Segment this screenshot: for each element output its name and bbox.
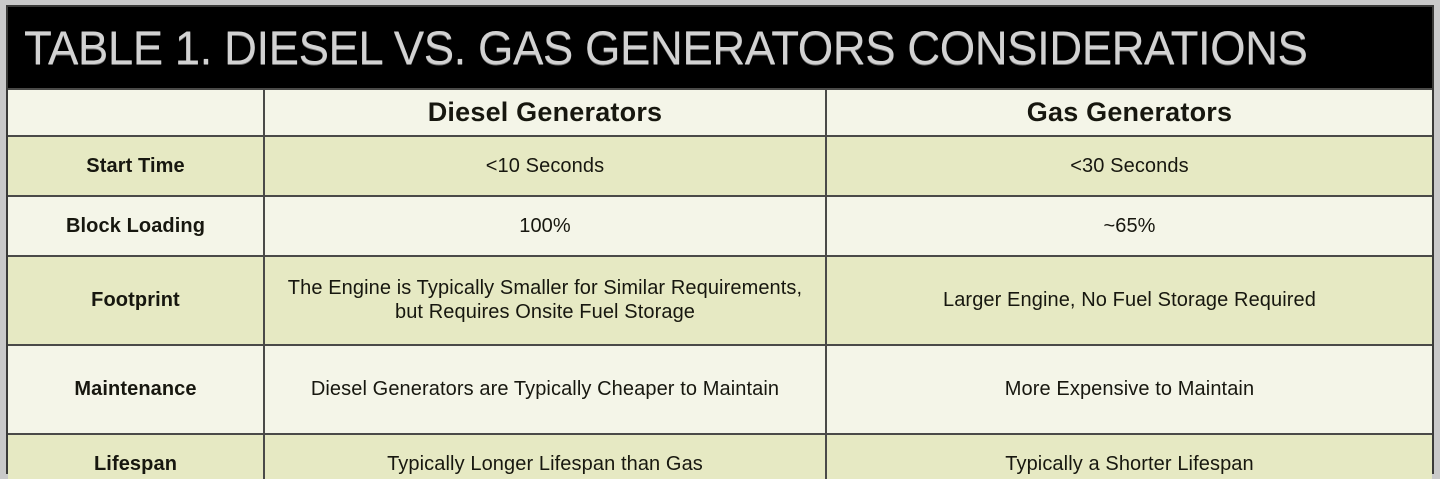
cell-gas-maintenance: More Expensive to Maintain: [826, 345, 1432, 434]
header-cell-label: [8, 90, 264, 136]
header-cell-diesel: Diesel Generators: [264, 90, 826, 136]
table-row: Start Time <10 Seconds <30 Seconds: [8, 136, 1432, 196]
cell-diesel-block-loading: 100%: [264, 196, 826, 256]
table-row: Footprint The Engine is Typically Smalle…: [8, 256, 1432, 345]
cell-diesel-maintenance: Diesel Generators are Typically Cheaper …: [264, 345, 826, 434]
table-header-row: Diesel Generators Gas Generators: [8, 90, 1432, 136]
row-label-maintenance: Maintenance: [8, 345, 264, 434]
row-label-lifespan: Lifespan: [8, 434, 264, 479]
cell-diesel-footprint: The Engine is Typically Smaller for Simi…: [264, 256, 826, 345]
table-body: Diesel Generators Gas Generators Start T…: [8, 90, 1432, 479]
cell-gas-footprint: Larger Engine, No Fuel Storage Required: [826, 256, 1432, 345]
cell-gas-lifespan: Typically a Shorter Lifespan: [826, 434, 1432, 479]
comparison-table: Diesel Generators Gas Generators Start T…: [8, 90, 1432, 479]
row-label-block-loading: Block Loading: [8, 196, 264, 256]
table-row: Block Loading 100% ~65%: [8, 196, 1432, 256]
cell-diesel-lifespan: Typically Longer Lifespan than Gas: [264, 434, 826, 479]
row-label-start-time: Start Time: [8, 136, 264, 196]
cell-gas-block-loading: ~65%: [826, 196, 1432, 256]
table-frame: TABLE 1. DIESEL VS. GAS GENERATORS CONSI…: [6, 5, 1434, 474]
header-cell-gas: Gas Generators: [826, 90, 1432, 136]
cell-gas-start-time: <30 Seconds: [826, 136, 1432, 196]
table-page: TABLE 1. DIESEL VS. GAS GENERATORS CONSI…: [0, 0, 1440, 479]
cell-diesel-start-time: <10 Seconds: [264, 136, 826, 196]
row-label-footprint: Footprint: [8, 256, 264, 345]
page-title: TABLE 1. DIESEL VS. GAS GENERATORS CONSI…: [24, 24, 1307, 71]
table-row: Lifespan Typically Longer Lifespan than …: [8, 434, 1432, 479]
table-row: Maintenance Diesel Generators are Typica…: [8, 345, 1432, 434]
table-title-bar: TABLE 1. DIESEL VS. GAS GENERATORS CONSI…: [8, 7, 1432, 90]
